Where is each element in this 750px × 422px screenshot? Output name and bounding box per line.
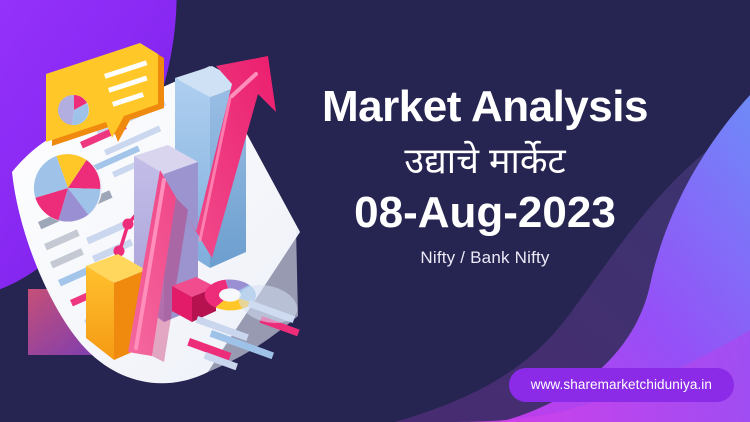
date-label: 08-Aug-2023 — [278, 189, 692, 237]
market-analysis-banner: Market Analysis उद्याचे मार्केट 08-Aug-2… — [0, 0, 750, 422]
headline-block: Market Analysis उद्याचे मार्केट 08-Aug-2… — [278, 84, 692, 268]
subtitle-marathi: उद्याचे मार्केट — [278, 138, 692, 183]
page-title: Market Analysis — [278, 84, 692, 130]
website-url-pill[interactable]: www.sharemarketchiduniya.in — [509, 368, 734, 402]
segments-label: Nifty / Bank Nifty — [278, 248, 692, 268]
